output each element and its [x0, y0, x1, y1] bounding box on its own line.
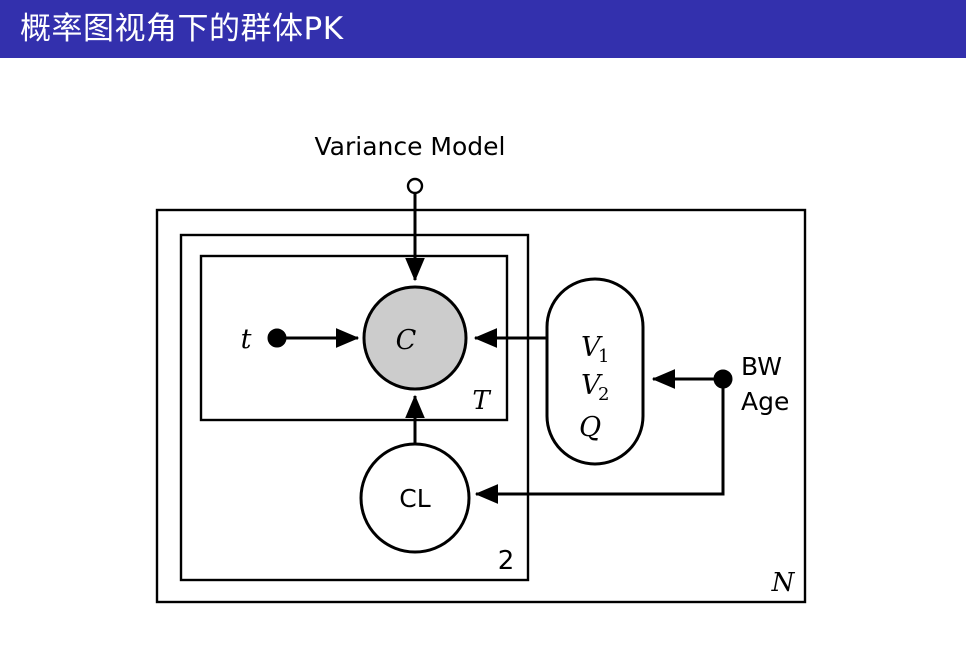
variance-model-label: Variance Model: [314, 132, 505, 161]
diagram-svg: V 1 V 2 Q C CL Variance Model t BW Age T…: [0, 58, 966, 664]
variance-model-node[interactable]: [408, 179, 422, 193]
volume-2-subscript: 2: [598, 384, 609, 405]
slide-root: 概率图视角下的群体PK: [0, 0, 966, 664]
concentration-label: C: [396, 325, 417, 356]
title-banner: 概率图视角下的群体PK: [0, 0, 966, 58]
volume-1-subscript: 1: [598, 346, 609, 367]
timepoints-plate-label: T: [472, 386, 491, 416]
covariate-age-label: Age: [741, 387, 789, 416]
clearance-label: CL: [399, 484, 430, 513]
graphical-model-diagram: V 1 V 2 Q C CL Variance Model t BW Age T…: [0, 58, 966, 664]
covariate-bw-label: BW: [741, 352, 782, 381]
covariates-node[interactable]: [714, 370, 732, 388]
time-node[interactable]: [268, 329, 286, 347]
page-title: 概率图视角下的群体PK: [20, 7, 344, 51]
compartments-plate-label: 2: [498, 546, 515, 576]
subjects-plate-label: N: [771, 568, 796, 598]
time-label: t: [241, 324, 252, 355]
intercompartmental-clearance-label: Q: [579, 412, 601, 443]
